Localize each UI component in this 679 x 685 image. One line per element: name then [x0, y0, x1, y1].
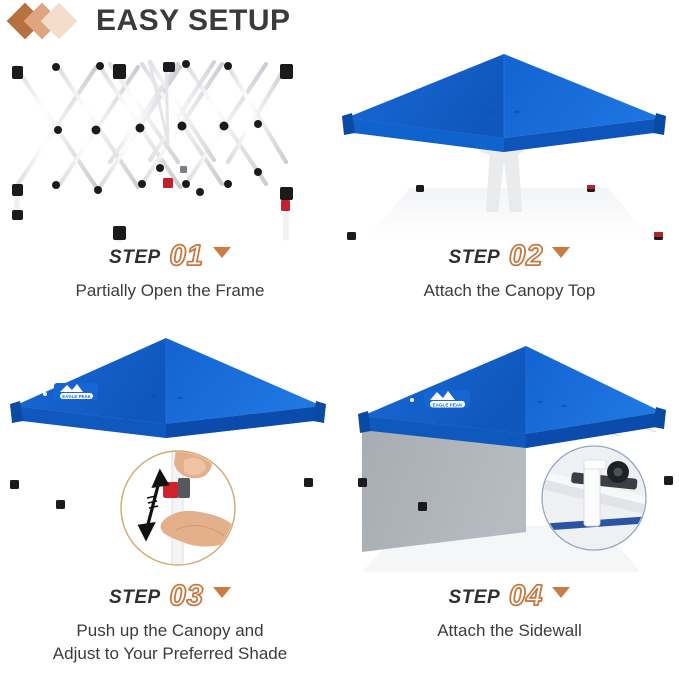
- step-2-description: Attach the Canopy Top: [340, 280, 679, 303]
- step-1-word: STEP: [109, 247, 161, 269]
- step-3-number: 03: [170, 580, 204, 613]
- step-1-caption: STEP 01 Partially Open the Frame: [0, 238, 340, 303]
- step-2-word: STEP: [449, 247, 501, 269]
- canopy-with-person-illustration: [340, 42, 679, 250]
- step-4-number: 04: [509, 580, 543, 613]
- triangle-down-icon: [213, 247, 231, 258]
- step-4-header: STEP 04: [449, 578, 571, 611]
- step-panel-2: STEP 02 Attach the Canopy Top: [340, 42, 679, 310]
- step-4-desc-line-1: Attach the Sidewall: [340, 620, 679, 643]
- triangle-down-icon: [552, 247, 570, 258]
- step-4-word: STEP: [449, 587, 501, 609]
- step-4-description: Attach the Sidewall: [340, 620, 679, 643]
- folded-canopy-frame-illustration: [0, 42, 340, 242]
- step-panel-1: STEP 01 Partially Open the Frame: [0, 42, 340, 310]
- triangle-down-icon: [213, 587, 231, 598]
- step-3-caption: STEP 03 Push up the Canopy and Adjust to…: [0, 578, 340, 666]
- step-2-header: STEP 02: [449, 238, 571, 271]
- step-1-number: 01: [170, 240, 204, 273]
- canopy-sidewall-illustration: EAGLE PEAK: [340, 320, 679, 590]
- steps-grid: STEP 01 Partially Open the Frame: [0, 0, 679, 685]
- step-2-desc-line-1: Attach the Canopy Top: [340, 280, 679, 303]
- canopy-push-up-illustration: EAGLE PEAK: [0, 320, 340, 590]
- step-4-caption: STEP 04 Attach the Sidewall: [340, 578, 679, 643]
- step-3-description: Push up the Canopy and Adjust to Your Pr…: [0, 620, 340, 666]
- hand-push-inset: [121, 443, 235, 568]
- step-1-desc-line-1: Partially Open the Frame: [0, 280, 340, 303]
- step-3-desc-line-2: Adjust to Your Preferred Shade: [0, 643, 340, 666]
- step-3-desc-line-1: Push up the Canopy and: [0, 620, 340, 643]
- triangle-down-icon: [552, 587, 570, 598]
- svg-text:EAGLE PEAK: EAGLE PEAK: [62, 394, 91, 399]
- step-panel-4: EAGLE PEAK: [340, 320, 679, 685]
- step-3-header: STEP 03: [109, 578, 231, 611]
- step-2-caption: STEP 02 Attach the Canopy Top: [340, 238, 679, 303]
- step-1-description: Partially Open the Frame: [0, 280, 340, 303]
- brand-badge: EAGLE PEAK: [424, 390, 470, 408]
- step-2-number: 02: [509, 240, 543, 273]
- step-1-header: STEP 01: [109, 238, 231, 271]
- svg-text:EAGLE PEAK: EAGLE PEAK: [433, 402, 464, 407]
- step-panel-3: EAGLE PEAK: [0, 320, 340, 685]
- brand-badge: EAGLE PEAK: [54, 383, 98, 400]
- step-3-word: STEP: [109, 587, 161, 609]
